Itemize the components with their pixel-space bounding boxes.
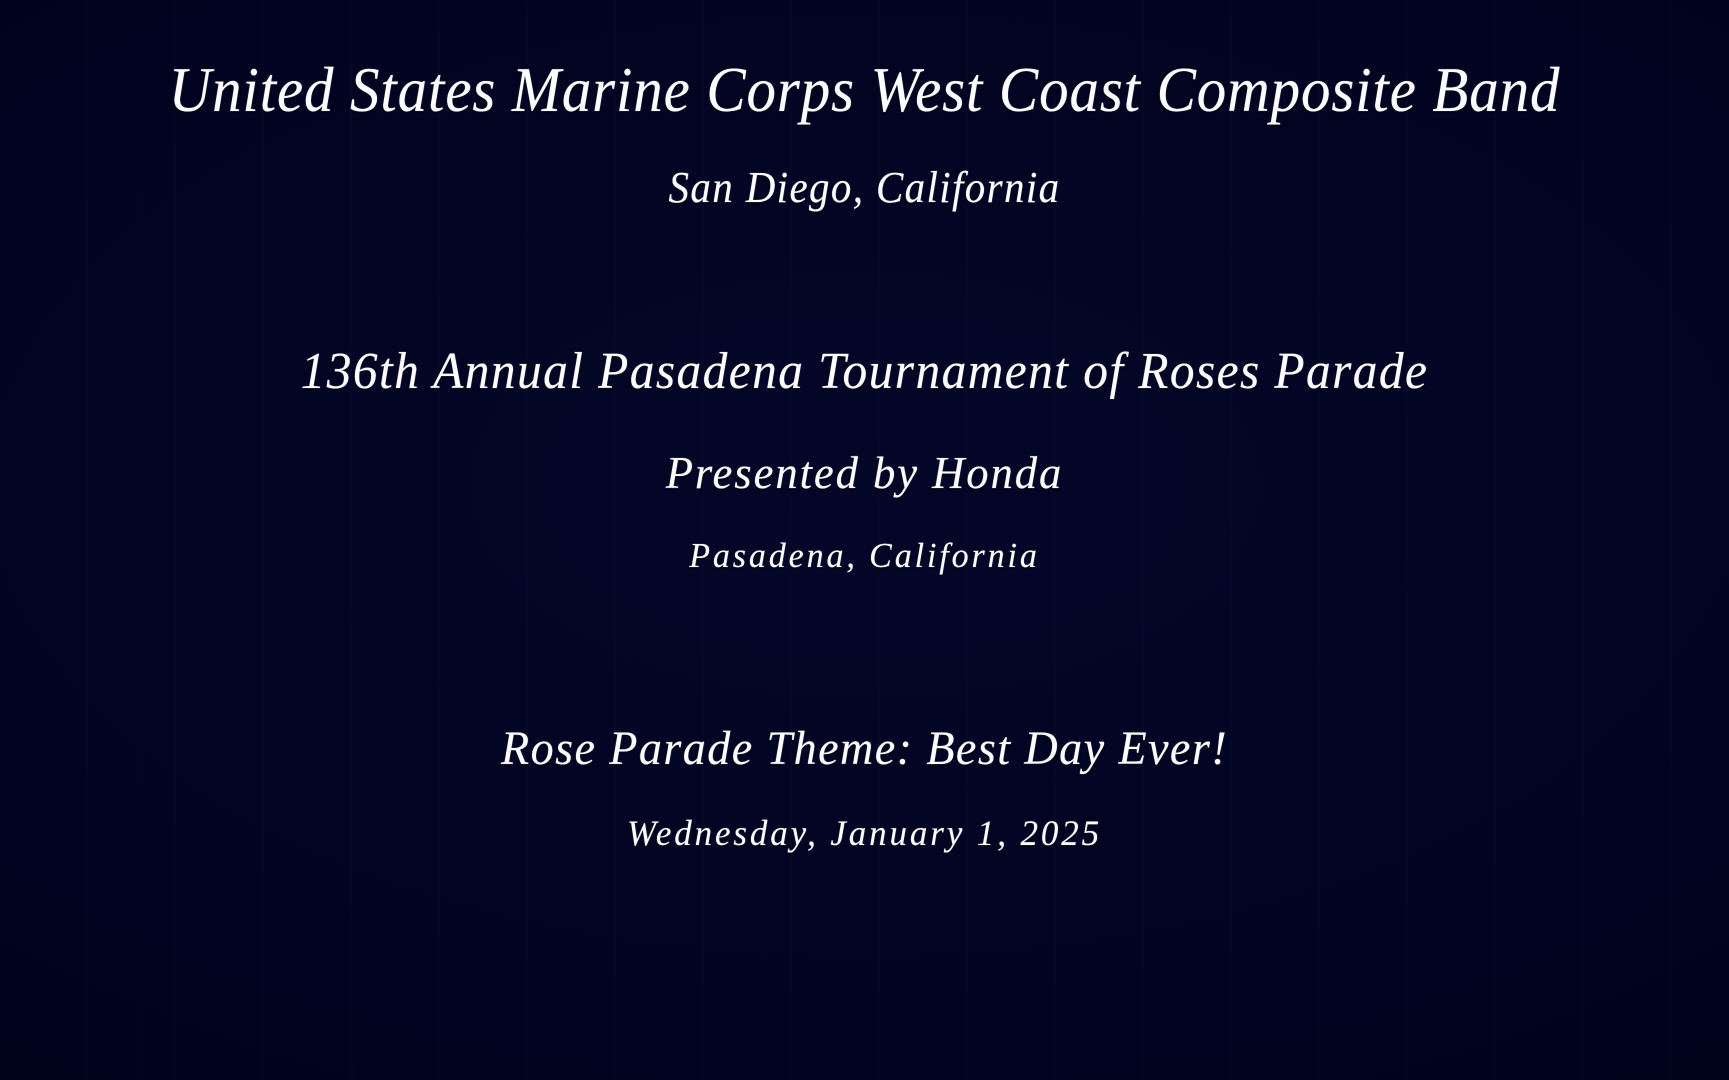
- title-card: United States Marine Corps West Coast Co…: [0, 0, 1729, 1080]
- event-presenter: Presented by Honda: [26, 450, 1703, 496]
- title-card-content: United States Marine Corps West Coast Co…: [0, 0, 1729, 1080]
- parade-theme: Rose Parade Theme: Best Day Ever!: [35, 725, 1695, 773]
- ensemble-name: United States Marine Corps West Coast Co…: [69, 58, 1660, 122]
- event-name: 136th Annual Pasadena Tournament of Rose…: [43, 346, 1686, 398]
- event-date: Wednesday, January 1, 2025: [26, 815, 1703, 851]
- event-city: Pasadena, California: [26, 538, 1703, 573]
- ensemble-hometown: San Diego, California: [61, 166, 1669, 210]
